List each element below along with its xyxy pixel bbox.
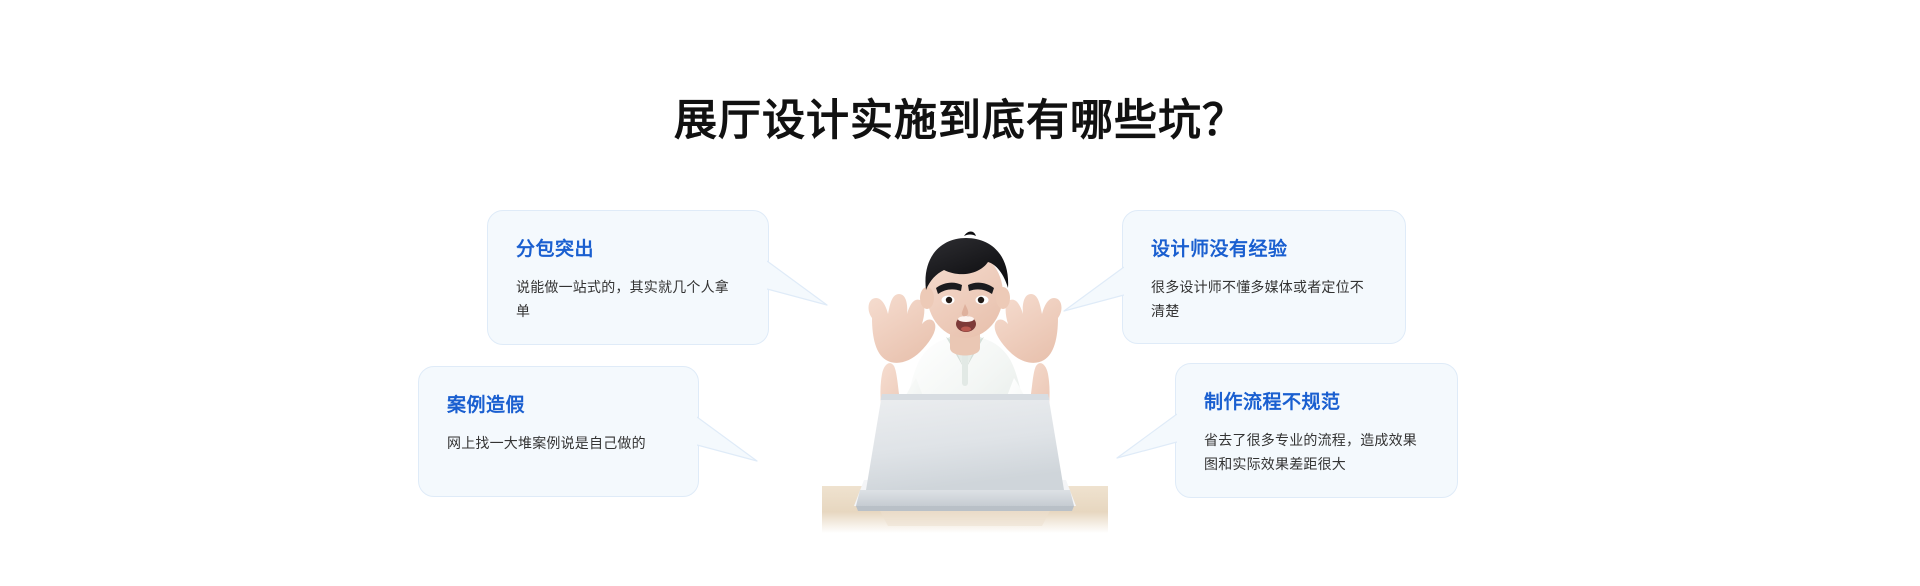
- speech-tail-right-icon: [697, 415, 759, 469]
- callout-card-subcontracting: 分包突出 说能做一站式的，其实就几个人拿单: [487, 210, 769, 345]
- callout-body: 省去了很多专业的流程，造成效果图和实际效果差距很大: [1204, 428, 1429, 476]
- callout-card-inexperienced-designer: 设计师没有经验 很多设计师不懂多媒体或者定位不清楚: [1122, 210, 1406, 344]
- callout-title: 设计师没有经验: [1151, 237, 1377, 263]
- callout-body: 网上找一大堆案例说是自己做的: [447, 431, 670, 455]
- callout-title: 案例造假: [447, 393, 670, 419]
- callout-body: 很多设计师不懂多媒体或者定位不清楚: [1151, 275, 1377, 323]
- callout-card-fake-cases: 案例造假 网上找一大堆案例说是自己做的: [418, 366, 699, 497]
- speech-tail-left-icon: [1115, 412, 1177, 466]
- callout-title: 制作流程不规范: [1204, 390, 1429, 416]
- callout-body: 说能做一站式的，其实就几个人拿单: [516, 275, 740, 323]
- callout-card-non-standard-process: 制作流程不规范 省去了很多专业的流程，造成效果图和实际效果差距很大: [1175, 363, 1458, 498]
- page-root: 展厅设计实施到底有哪些坑？: [0, 0, 1920, 586]
- callout-title: 分包突出: [516, 237, 740, 263]
- hero-photo: [820, 218, 1110, 533]
- page-title: 展厅设计实施到底有哪些坑？: [0, 93, 1920, 149]
